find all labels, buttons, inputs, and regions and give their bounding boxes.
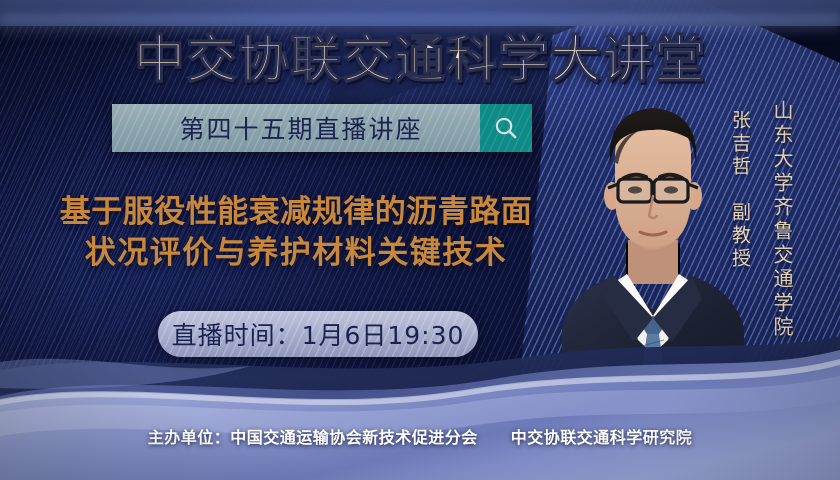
lecture-title: 基于服役性能衰减规律的沥青路面 状况评价与养护材料关键技术 — [16, 192, 576, 274]
poster-canvas: 中交协联交通科学大讲堂 第四十五期直播讲座 基于服役性能衰减规律的沥青路面 状况… — [0, 0, 840, 480]
broadcast-time-badge: 直播时间：1月6日19:30 — [158, 311, 478, 357]
broadcast-time-label: 直播时间：1月6日19:30 — [172, 316, 465, 352]
search-button[interactable] — [480, 104, 532, 152]
speaker-name-title: 张吉哲 副教授 — [727, 110, 754, 271]
episode-field[interactable]: 第四十五期直播讲座 — [112, 104, 480, 152]
episode-label: 第四十五期直播讲座 — [169, 110, 422, 146]
speaker-affiliation: 山东大学齐鲁交通学院 — [768, 100, 797, 340]
lecture-title-line1: 基于服役性能衰减规律的沥青路面 — [16, 192, 576, 233]
organizer-footer: 主办单位：中国交通运输协会新技术促进分会 中交协联交通科学研究院 — [0, 424, 840, 448]
search-icon — [493, 115, 519, 141]
page-title: 中交协联交通科学大讲堂 — [0, 18, 840, 92]
lecture-title-line2: 状况评价与养护材料关键技术 — [16, 233, 576, 274]
episode-search-bar[interactable]: 第四十五期直播讲座 — [112, 104, 532, 152]
